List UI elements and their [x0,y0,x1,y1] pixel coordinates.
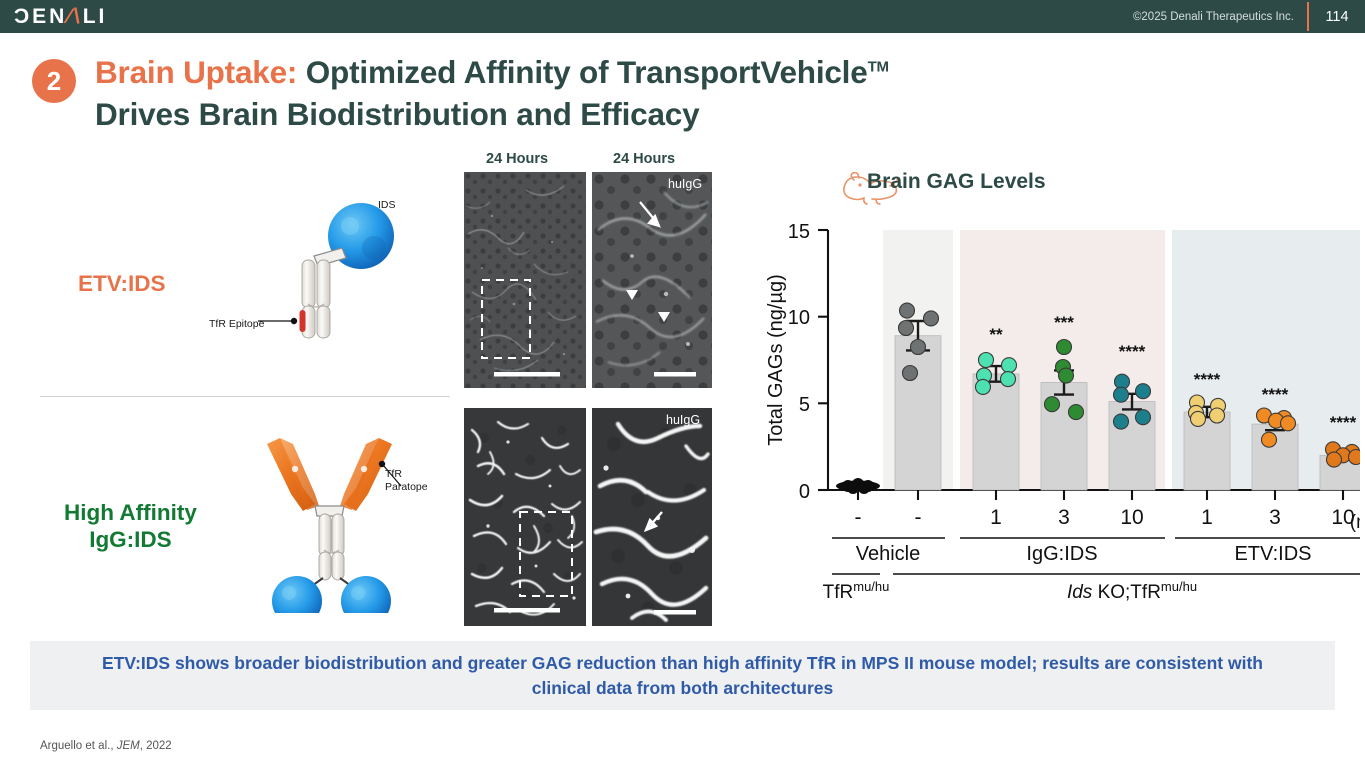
title-block: 2 Brain Uptake: Optimized Affinity of Tr… [32,52,1332,136]
ids-enzyme-sphere-left [272,576,322,613]
xtick-1: - [915,506,922,529]
title-rest: Optimized Affinity of TransportVehicle [297,54,867,90]
micrograph-header-left: 24 Hours [486,151,548,167]
citation: Arguello et al., JEM, 2022 [40,740,172,752]
annotation-ids: IDS [378,199,396,212]
group-label-vehicle: Vehicle [856,543,921,565]
group-label-igg: IgG:IDS [1026,543,1097,565]
group-label-etv: ETV:IDS [1234,543,1311,565]
ytick-10: 10 [788,307,810,329]
sig-igg-3: *** [1054,313,1074,332]
x-tick-labels: - - 1 3 10 1 3 10 [855,506,1355,529]
citation-authors: Arguello et al., [40,740,117,752]
citation-journal: JEM [117,740,140,752]
header-right: ©2025 Denali Therapeutics Inc. 114 [1133,0,1365,33]
xtick-5: 1 [1201,506,1213,529]
section-number-badge: 2 [32,59,76,103]
molecule-diagram-igg [233,428,438,613]
xtick-6: 3 [1269,506,1281,529]
genotype-vehicle: TfRmu/hu [823,579,890,603]
sig-etv-3: **** [1262,385,1289,404]
xtick-4: 10 [1120,506,1143,529]
bar-vehicle-ko [895,336,941,490]
micrograph-header-right: 24 Hours [613,151,675,167]
bar-etv-3 [1252,424,1298,490]
fab-arm-left [267,438,319,511]
chart-plot-area: 15 10 5 0 Total GAGs (ng/µg) [760,160,1360,620]
sig-etv-1: **** [1194,370,1221,389]
page-number: 114 [1309,9,1365,25]
annotation-tfr-epitope: TfR Epitope [209,318,264,331]
scale-bar [654,372,696,377]
sig-igg-10: **** [1119,342,1146,361]
igg-label-line1: High Affinity [64,500,197,525]
xtick-2: 1 [990,506,1002,529]
channel-tag-bottom: huIgG [666,413,700,427]
citation-year: , 2022 [140,740,172,752]
scale-bar [494,608,560,613]
sig-igg-1: ** [989,325,1003,344]
ytick-5: 5 [799,394,810,416]
title-line2: Drives Brain Biodistribution and Efficac… [95,96,699,132]
annotation-tfr-paratope: TfR Paratope [385,468,428,494]
logo-accent-a: ∕\ [67,5,82,29]
architecture-label-etv: ETV:IDS [78,270,166,297]
ytick-15: 15 [788,221,810,243]
denali-logo: ƆEN∕\LI [14,5,107,29]
paratope-line2: Paratope [385,481,428,493]
micrograph-igg-highmag [592,408,712,626]
summary-banner-text: ETV:IDS shows broader biodistribution an… [73,651,1293,699]
xtick-3: 3 [1058,506,1070,529]
page-header: ƆEN∕\LI ©2025 Denali Therapeutics Inc. 1… [0,0,1365,33]
group-labels: Vehicle IgG:IDS ETV:IDS [856,543,1312,565]
summary-banner: ETV:IDS shows broader biodistribution an… [30,641,1335,710]
trademark-symbol: TM [868,59,889,76]
brain-gag-chart: Brain GAG Levels 15 10 5 0 Total GAGs (n… [760,160,1360,620]
title-highlight: Brain Uptake: [95,54,297,90]
panel-divider [40,396,450,397]
xtick-0: - [855,506,862,529]
genotype-labels: TfRmu/hu Ids KO;TfRmu/hu [823,579,1197,603]
page-title: Brain Uptake: Optimized Affinity of Tran… [95,52,889,136]
paratope-line1: TfR [385,468,402,480]
architecture-label-igg: High Affinity IgG:IDS [64,499,197,553]
micrograph-etv-lowmag [464,172,586,388]
micrograph-etv-highmag [592,172,712,388]
micrograph-igg-lowmag [464,408,586,626]
copyright-text: ©2025 Denali Therapeutics Inc. [1133,11,1307,23]
logo-text-d: ƆEN [14,5,67,29]
y-axis-label: Total GAGs (ng/µg) [765,274,787,446]
scale-bar [654,610,696,615]
genotype-ko: Ids KO;TfRmu/hu [1067,579,1197,603]
tfr-epitope-marker [300,310,306,332]
bar-etv-1 [1184,412,1230,490]
x-axis-label-line2: (mg/kg) [1350,512,1360,533]
molecule-diagram-etv [258,188,443,348]
scale-bar [494,372,560,377]
channel-tag-top: huIgG [668,177,702,191]
igg-label-line2: IgG:IDS [64,526,197,553]
sig-etv-10: **** [1330,413,1357,432]
ytick-0: 0 [799,481,810,503]
logo-text-li: LI [83,5,108,29]
ids-enzyme-sphere-right [341,576,391,613]
